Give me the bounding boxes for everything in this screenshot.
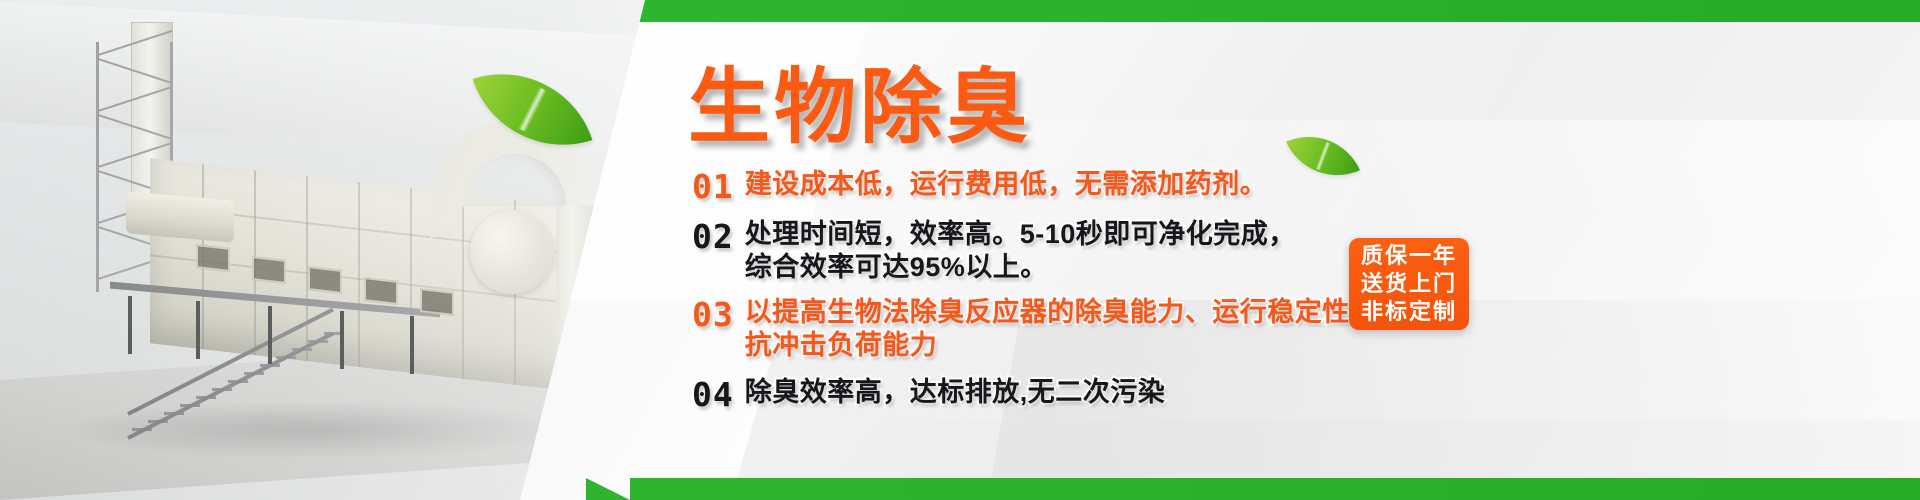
photo-inspection-window [364,277,398,305]
photo-inspection-window [252,256,286,284]
photo-railing-post [410,316,414,374]
photo-inspection-window [420,288,454,316]
feature-list: 01 建设成本低，运行费用低，无需添加药剂。 02 处理时间短，效率高。5-10… [692,168,1392,423]
feature-number: 04 [692,376,734,414]
feature-text-line: 建设成本低，运行费用低，无需添加药剂。 [745,168,1268,201]
banner-title: 生物除臭 [688,62,1032,154]
feature-item-04: 04 除臭效率高，达标排放,无二次污染 [692,376,1392,414]
feature-number: 03 [692,296,734,334]
product-photo [0,0,690,500]
green-accent-bar-top [630,0,1920,22]
photo-inspection-window [196,244,230,272]
badge-line-custom: 非标定制 [1361,298,1457,326]
photo-railing-post [340,311,344,369]
feature-text-line: 以提高生物法除臭反应器的除臭能力、运行稳定性和 [745,296,1378,329]
feature-text: 除臭效率高，达标排放,无二次污染 [745,376,1166,409]
photo-railing-post [196,301,200,359]
feature-text-line: 处理时间短，效率高。5-10秒即可净化完成， [745,218,1296,251]
feature-number: 02 [692,218,734,256]
feature-text: 以提高生物法除臭反应器的除臭能力、运行稳定性和 抗冲击负荷能力 [745,296,1378,362]
feature-text-line: 综合效率可达95%以上。 [745,251,1296,284]
feature-item-03: 03 以提高生物法除臭反应器的除臭能力、运行稳定性和 抗冲击负荷能力 [692,296,1392,362]
photo-railing-post [128,296,132,354]
feature-text: 建设成本低，运行费用低，无需添加药剂。 [745,168,1268,201]
photo-inspection-window [308,266,342,294]
badge-line-delivery: 送货上门 [1361,270,1457,298]
feature-text-line: 除臭效率高，达标排放,无二次污染 [745,376,1166,409]
photo-railing-post [268,306,272,364]
green-accent-bar-bottom [630,478,1920,500]
promotional-banner: 生物除臭 01 建设成本低，运行费用低，无需添加药剂。 02 处理时间短，效率高… [0,0,1920,500]
feature-item-01: 01 建设成本低，运行费用低，无需添加药剂。 [692,168,1392,206]
badge-line-warranty: 质保一年 [1361,242,1457,270]
guarantee-badge[interactable]: 质保一年 送货上门 非标定制 [1349,238,1469,330]
feature-item-02: 02 处理时间短，效率高。5-10秒即可净化完成， 综合效率可达95%以上。 [692,218,1392,284]
feature-number: 01 [692,168,734,206]
feature-text-line: 抗冲击负荷能力 [745,329,1378,362]
feature-text: 处理时间短，效率高。5-10秒即可净化完成， 综合效率可达95%以上。 [745,218,1296,284]
